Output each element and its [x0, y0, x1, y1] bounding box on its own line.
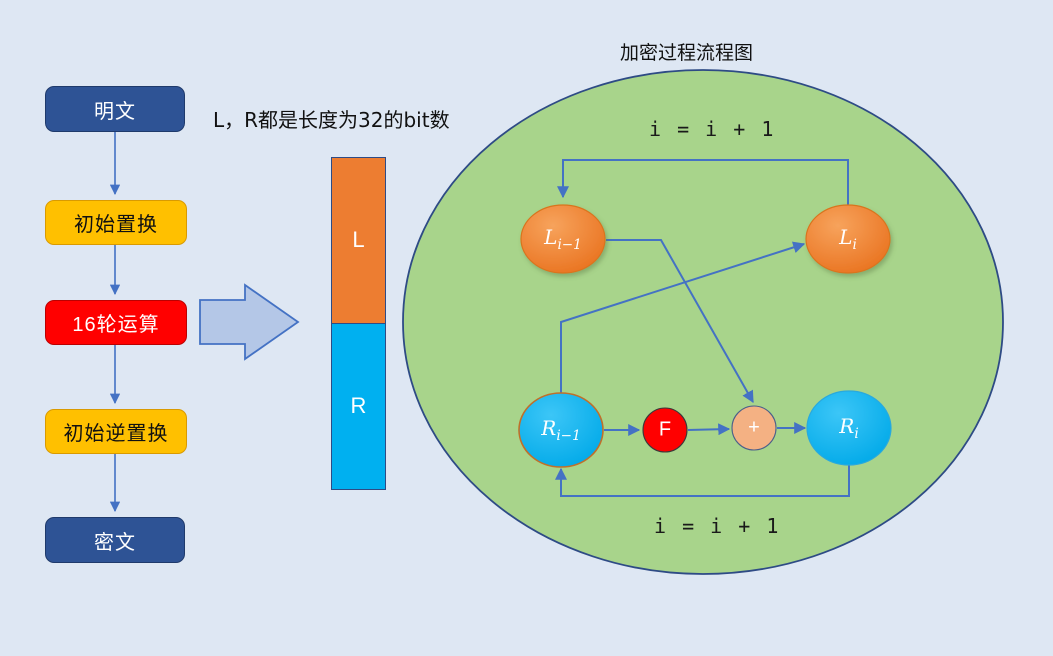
flow-step-inverse-permutation[interactable]: 初始逆置换 [45, 409, 187, 454]
flow-step-ciphertext[interactable]: 密文 [45, 517, 185, 563]
feistel-round-container [403, 70, 1003, 574]
node-L-cur-label: Li [839, 225, 857, 253]
loop-label-top: i = i + 1 [649, 117, 775, 141]
feistel-diagram-title: 加密过程流程图 [620, 38, 753, 65]
node-R-cur-label: Ri [839, 414, 858, 442]
flow-step-sixteen-rounds-label: 16轮运算 [72, 308, 159, 337]
loop-label-bottom: i = i + 1 [654, 514, 780, 538]
flow-step-plaintext-label: 明文 [94, 95, 136, 124]
node-F-function-label: F [659, 419, 671, 442]
node-L-prev-label: Li−1 [544, 225, 582, 253]
flow-step-ciphertext-label: 密文 [94, 526, 136, 555]
flow-step-sixteen-rounds[interactable]: 16轮运算 [45, 300, 187, 345]
node-R-cur-label-sub: i [854, 426, 858, 442]
node-L-cur-label-main: L [839, 225, 852, 249]
flow-step-initial-permutation[interactable]: 初始置换 [45, 200, 187, 245]
node-R-prev-label-sub: i−1 [556, 428, 580, 444]
node-xor-label: + [748, 417, 760, 440]
flow-step-inverse-permutation-label: 初始逆置换 [64, 417, 169, 446]
flow-step-initial-permutation-label: 初始置换 [74, 208, 158, 237]
edge-F-to-xor [688, 429, 729, 430]
lr-bar-right-half: R [332, 324, 385, 490]
node-R-prev-label: Ri−1 [541, 416, 580, 444]
flow-step-plaintext[interactable]: 明文 [45, 86, 185, 132]
lr-length-note: L，R都是长度为32的bit数 [213, 104, 450, 133]
node-R-cur-label-main: R [839, 414, 854, 438]
lr-bar-left-half: L [332, 158, 385, 324]
node-L-prev-label-sub: i−1 [557, 237, 581, 253]
node-R-prev-label-main: R [541, 416, 556, 440]
node-L-cur-label-sub: i [852, 237, 856, 253]
lr-block-bar: L R [331, 157, 386, 490]
node-L-prev-label-main: L [544, 225, 557, 249]
